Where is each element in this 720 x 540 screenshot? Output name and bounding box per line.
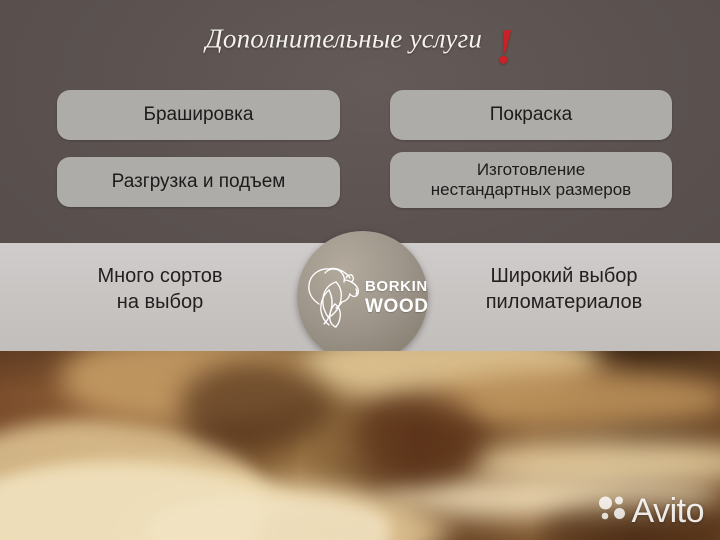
service-pill-pokraska[interactable]: Покраска xyxy=(390,90,672,140)
service-pill-razgruzka[interactable]: Разгрузка и подъем xyxy=(57,157,340,207)
service-pill-label: Покраска xyxy=(490,104,572,126)
service-pill-izgotovlenie[interactable]: Изготовление нестандартных размеров xyxy=(390,152,672,208)
benefit-left: Много сортов на выбор xyxy=(20,263,300,315)
page-title: Дополнительные услуги! xyxy=(0,14,720,64)
avito-label: Avito xyxy=(632,494,704,528)
brand-logo-badge: BORKIN WOOD xyxy=(297,231,428,363)
service-pill-brashirovka[interactable]: Брашировка xyxy=(57,90,340,140)
poster-image: Дополнительные услуги! Брашировка Покрас… xyxy=(0,0,720,540)
brand-name-bottom: WOOD xyxy=(365,296,428,317)
service-pill-label: Изготовление нестандартных размеров xyxy=(431,160,631,200)
avito-dots-icon xyxy=(597,493,627,528)
benefit-right: Широкий выбор пиломатериалов xyxy=(424,263,704,315)
service-pill-label: Разгрузка и подъем xyxy=(112,171,286,193)
service-pill-label: Брашировка xyxy=(144,104,254,126)
lion-head-icon xyxy=(305,262,363,333)
avito-watermark: Avito xyxy=(597,493,704,528)
page-title-text: Дополнительные услуги xyxy=(205,24,482,54)
brand-name-top: BORKIN xyxy=(365,278,428,296)
photo-blob xyxy=(180,361,330,451)
photo-blob xyxy=(360,391,480,481)
wood-logs-photo: Avito xyxy=(0,351,720,540)
brand-logo-wordmark: BORKIN WOOD xyxy=(365,278,428,317)
exclamation-accent: ! xyxy=(494,21,515,72)
